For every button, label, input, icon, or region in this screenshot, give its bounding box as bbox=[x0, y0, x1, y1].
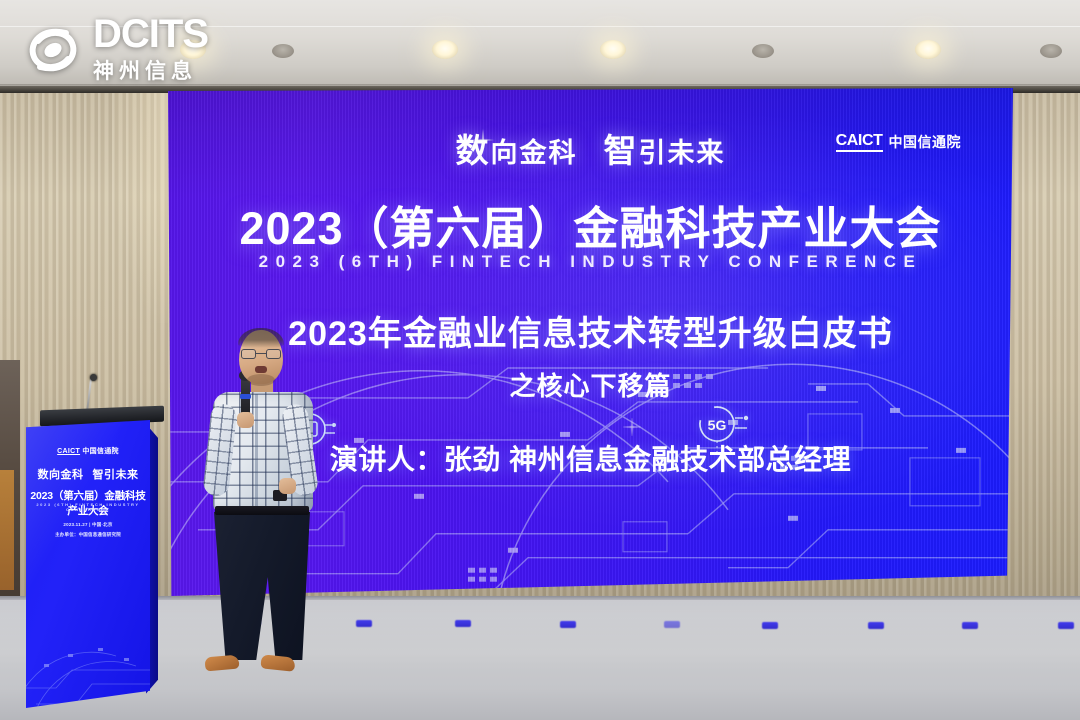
caict-logo: CAICT 中国信通院 bbox=[836, 132, 961, 152]
dcits-watermark-text: DCITS 神州信息 bbox=[93, 16, 208, 85]
tagline-text-a: 向金科 bbox=[491, 138, 578, 168]
caict-chinese-name: 中国信通院 bbox=[889, 132, 962, 152]
conference-main-title: 2023（第六届）金融科技产业大会 bbox=[168, 192, 1013, 257]
podium-circuit-pattern-icon bbox=[26, 618, 150, 708]
downlight-icon bbox=[432, 40, 458, 59]
eyeglasses-icon bbox=[241, 349, 281, 359]
presenter-beard-shadow bbox=[247, 374, 275, 386]
floor-light-reflection bbox=[455, 620, 471, 627]
dcits-brand-en: DCITS bbox=[93, 16, 208, 53]
presenter-mouth bbox=[255, 366, 267, 373]
presenter-hand-right bbox=[279, 478, 296, 494]
conference-stage-photo: 5G AI bbox=[0, 0, 1080, 720]
floor-light-reflection bbox=[962, 622, 978, 629]
recessed-light-icon bbox=[1040, 44, 1062, 58]
podium-tagline-a: 数 bbox=[38, 469, 50, 481]
downlight-icon bbox=[600, 40, 626, 59]
recessed-light-icon bbox=[752, 44, 774, 58]
eyeglass-lens-left bbox=[241, 349, 256, 359]
tagline-char-shu: 数 bbox=[456, 132, 491, 169]
presenter-hand-left bbox=[237, 412, 254, 428]
tagline-char-zhi: 智 bbox=[604, 132, 639, 169]
dcits-brand-cn: 神州信息 bbox=[93, 55, 208, 85]
presenter-shoe-left bbox=[204, 655, 239, 672]
floor-light-reflection bbox=[1058, 622, 1074, 629]
eyeglass-bridge bbox=[256, 353, 266, 354]
conference-subtitle-english: 2023 (6TH) FINTECH INDUSTRY CONFERENCE bbox=[168, 252, 1013, 272]
dcits-watermark: DCITS 神州信息 bbox=[22, 16, 208, 85]
floor-light-reflection bbox=[868, 622, 884, 629]
speaker-podium: CAICT 中国信通院 数向金科智引未来 2023（第六届）金融科技产业大会 2… bbox=[18, 408, 164, 708]
recessed-light-icon bbox=[272, 44, 294, 58]
podium-tagline: 数向金科智引未来 bbox=[26, 466, 150, 482]
downlight-icon bbox=[915, 40, 941, 59]
floor-light-reflection bbox=[762, 622, 778, 629]
podium-host-organization: 主办单位：中国信息通信研究院 bbox=[26, 532, 150, 538]
podium-front-panel: CAICT 中国信通院 数向金科智引未来 2023（第六届）金融科技产业大会 2… bbox=[26, 420, 150, 708]
podium-tagline-c: 智 bbox=[93, 469, 105, 481]
side-wall-accent bbox=[0, 470, 14, 590]
caict-mark-text: CAICT bbox=[836, 133, 883, 152]
podium-caict-logo: CAICT 中国信通院 bbox=[26, 446, 150, 456]
presenter-trousers bbox=[214, 512, 310, 660]
podium-caict-cn: 中国信通院 bbox=[82, 448, 119, 455]
floor-light-reflection bbox=[664, 621, 680, 628]
floor-light-reflection bbox=[356, 620, 372, 627]
presenter-person bbox=[197, 330, 327, 670]
tagline-text-b: 引未来 bbox=[639, 138, 726, 168]
microphone-band-icon bbox=[240, 394, 251, 399]
podium-microphone-head-icon bbox=[90, 374, 97, 381]
presenter-hair bbox=[238, 328, 284, 348]
eyeglass-lens-right bbox=[266, 349, 281, 359]
presenter-shirt-placket bbox=[255, 394, 258, 510]
podium-caict-mark: CAICT bbox=[57, 448, 80, 455]
floor-light-reflection bbox=[560, 621, 576, 628]
podium-conference-title-english: 2023 (6TH) FINTECH INDUSTRY CONFERENCE bbox=[26, 502, 150, 512]
podium-tagline-b: 向金科 bbox=[49, 469, 84, 481]
presenter-belt bbox=[215, 506, 309, 515]
podium-tagline-d: 引未来 bbox=[104, 469, 139, 481]
podium-date-location: 2023.11.27 | 中国·北京 bbox=[26, 522, 150, 528]
dcits-swirl-logo-icon bbox=[22, 19, 84, 81]
